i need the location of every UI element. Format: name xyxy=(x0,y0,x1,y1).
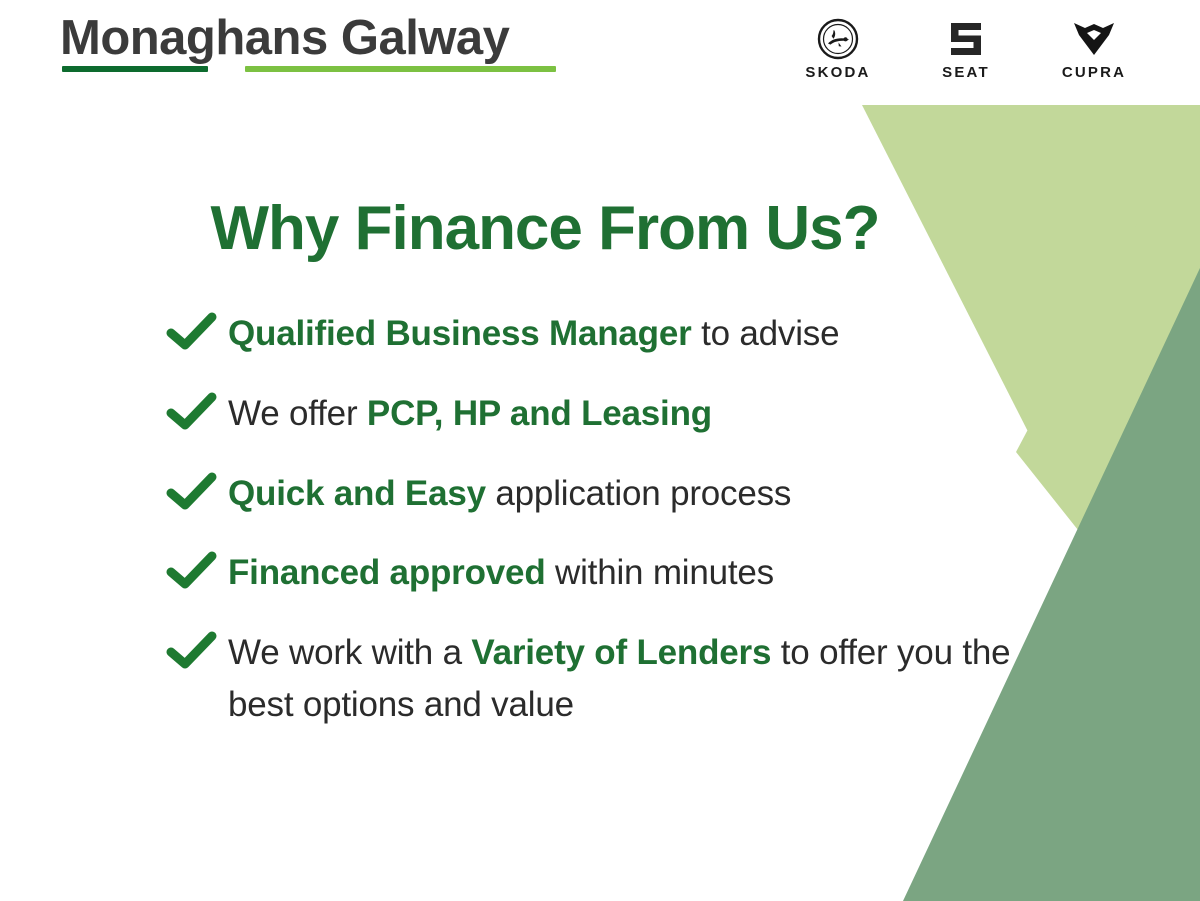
check-icon xyxy=(166,388,228,437)
dealer-logo-wordmark: Monaghans Galway xyxy=(60,14,600,63)
slide-canvas: Monaghans Galway SKODA xyxy=(0,0,1200,901)
list-item-plain: We offer xyxy=(228,394,367,433)
check-icon xyxy=(166,547,228,596)
brand-cupra: CUPRA xyxy=(1046,16,1142,80)
list-item: We offer PCP, HP and Leasing xyxy=(166,388,1066,440)
list-item-emphasis: PCP, HP and Leasing xyxy=(367,394,712,433)
list-item: Financed approved within minutes xyxy=(166,547,1066,599)
check-icon xyxy=(166,468,228,517)
check-icon xyxy=(166,308,228,357)
brand-seat-label: SEAT xyxy=(942,65,990,80)
slide-body: Why Finance From Us? Qualified Business … xyxy=(0,100,1200,261)
list-item-text: We offer PCP, HP and Leasing xyxy=(228,388,712,440)
list-item-text: Qualified Business Manager to advise xyxy=(228,308,839,360)
cupra-tribal-icon xyxy=(1071,16,1117,62)
list-item-plain: We work with a xyxy=(228,633,471,672)
seat-s-icon xyxy=(945,16,987,62)
list-item-plain: application process xyxy=(486,474,791,513)
brand-skoda: SKODA xyxy=(790,16,886,80)
list-item: Quick and Easy application process xyxy=(166,468,1066,520)
list-item-plain: to advise xyxy=(692,314,840,353)
brand-logo-row: SKODA SEAT CUPRA xyxy=(790,16,1142,80)
list-item-emphasis: Quick and Easy xyxy=(228,474,486,513)
list-item-text: We work with a Variety of Lenders to off… xyxy=(228,627,1066,731)
list-item-plain: within minutes xyxy=(546,553,774,592)
check-icon xyxy=(166,627,228,676)
skoda-winged-arrow-icon xyxy=(816,16,860,62)
logo-rule-dark xyxy=(62,66,208,72)
list-item-text: Financed approved within minutes xyxy=(228,547,774,599)
page-title: Why Finance From Us? xyxy=(0,100,1090,261)
brand-cupra-label: CUPRA xyxy=(1062,65,1126,80)
dealer-logo-rules xyxy=(60,66,560,74)
slide-header: Monaghans Galway SKODA xyxy=(0,0,1200,100)
list-item: We work with a Variety of Lenders to off… xyxy=(166,627,1066,731)
list-item-emphasis: Variety of Lenders xyxy=(471,633,771,672)
list-item-emphasis: Financed approved xyxy=(228,553,546,592)
brand-seat: SEAT xyxy=(918,16,1014,80)
dealer-logo: Monaghans Galway xyxy=(60,14,600,74)
logo-rule-light xyxy=(245,66,556,72)
list-item-text: Quick and Easy application process xyxy=(228,468,791,520)
list-item-emphasis: Qualified Business Manager xyxy=(228,314,692,353)
list-item: Qualified Business Manager to advise xyxy=(166,308,1066,360)
benefits-list: Qualified Business Manager to advise We … xyxy=(166,308,1066,731)
brand-skoda-label: SKODA xyxy=(805,65,870,80)
